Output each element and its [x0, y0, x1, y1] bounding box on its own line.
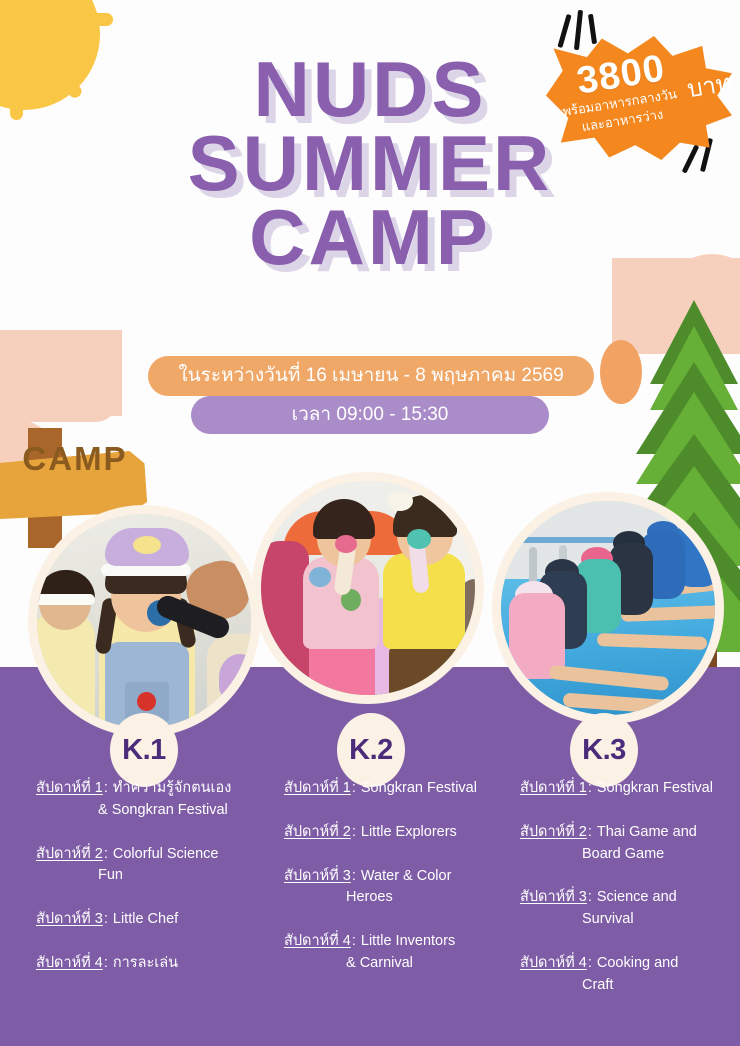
photo-circle-k3: [492, 492, 724, 724]
week-item: สัปดาห์ที่ 4: Little Inventors & Carniva…: [284, 931, 489, 975]
week-value-cont: Heroes: [284, 887, 489, 909]
week-value: การละเล่น: [113, 955, 178, 971]
photo-circle-k1: [28, 505, 260, 737]
week-item: สัปดาห์ที่ 1: ทำความรู้จักตนเอง & Songkr…: [36, 778, 241, 822]
title-line-3: CAMP: [0, 200, 740, 274]
week-value-cont: Survival: [520, 909, 725, 931]
week-label: สัปดาห์ที่ 4: [520, 955, 587, 971]
week-value-cont: Fun: [36, 865, 241, 887]
week-item: สัปดาห์ที่ 1: Songkran Festival: [284, 778, 489, 800]
spark-icon: [574, 10, 583, 50]
week-value: Songkran Festival: [597, 780, 713, 796]
week-value: Songkran Festival: [361, 780, 477, 796]
week-label: สัปดาห์ที่ 3: [284, 868, 351, 884]
week-separator: :: [587, 955, 593, 971]
week-value: Cooking and: [597, 955, 678, 971]
week-item: สัปดาห์ที่ 4: Cooking and Craft: [520, 953, 725, 997]
week-label: สัปดาห์ที่ 2: [520, 824, 587, 840]
grade-badge-k2: K.2: [337, 713, 405, 787]
schedule-column-k3: สัปดาห์ที่ 1: Songkran Festival สัปดาห์ท…: [490, 778, 740, 1046]
time-banner: เวลา 09:00 - 15:30: [191, 396, 549, 434]
week-item: สัปดาห์ที่ 3: Little Chef: [36, 909, 241, 931]
week-value: Little Explorers: [361, 824, 457, 840]
grade-badge-k1: K.1: [110, 713, 178, 787]
week-label: สัปดาห์ที่ 3: [520, 889, 587, 905]
week-label: สัปดาห์ที่ 2: [36, 846, 103, 862]
sun-ray-icon: [80, 13, 113, 26]
week-label: สัปดาห์ที่ 4: [284, 933, 351, 949]
week-item: สัปดาห์ที่ 4: การละเล่น: [36, 953, 241, 975]
week-item: สัปดาห์ที่ 3: Science and Survival: [520, 887, 725, 931]
schedule-column-k2: สัปดาห์ที่ 1: Songkran Festival สัปดาห์ท…: [250, 778, 490, 1046]
week-label: สัปดาห์ที่ 3: [36, 911, 103, 927]
week-item: สัปดาห์ที่ 2: Thai Game and Board Game: [520, 822, 725, 866]
spark-icon: [588, 14, 597, 44]
summer-camp-poster: 3800 บาท พร้อมอาหารกลางวัน และอาหารว่าง …: [0, 0, 740, 1046]
week-value: Little Inventors: [361, 933, 455, 949]
grade-badge-k3: K.3: [570, 713, 638, 787]
week-label: สัปดาห์ที่ 1: [520, 780, 587, 796]
week-item: สัปดาห์ที่ 3: Water & Color Heroes: [284, 866, 489, 910]
week-separator: :: [103, 911, 109, 927]
week-label: สัปดาห์ที่ 1: [36, 780, 103, 796]
week-separator: :: [351, 780, 357, 796]
week-separator: :: [587, 824, 593, 840]
week-separator: :: [103, 955, 109, 971]
week-label: สัปดาห์ที่ 2: [284, 824, 351, 840]
week-value: Colorful Science: [113, 846, 219, 862]
cloud-icon-left: [0, 330, 122, 416]
spark-icon: [557, 14, 571, 48]
week-item: สัปดาห์ที่ 1: Songkran Festival: [520, 778, 725, 800]
week-separator: :: [351, 824, 357, 840]
week-label: สัปดาห์ที่ 1: [284, 780, 351, 796]
signpost-label: CAMP: [0, 428, 164, 490]
week-separator: :: [103, 846, 109, 862]
photo-circle-k2: [252, 472, 484, 704]
week-value-cont: & Carnival: [284, 953, 489, 975]
schedule-column-k1: สัปดาห์ที่ 1: ทำความรู้จักตนเอง & Songkr…: [0, 778, 250, 1046]
title-line-2: SUMMER: [0, 126, 740, 200]
date-banner: ในระหว่างวันที่ 16 เมษายน - 8 พฤษภาคม 25…: [148, 356, 594, 396]
schedule-columns: สัปดาห์ที่ 1: ทำความรู้จักตนเอง & Songkr…: [0, 778, 740, 1046]
week-separator: :: [351, 868, 357, 884]
week-value: Water & Color: [361, 868, 452, 884]
week-value-cont: Board Game: [520, 844, 725, 866]
week-value: Little Chef: [113, 911, 178, 927]
week-value: Thai Game and: [597, 824, 697, 840]
week-separator: :: [103, 780, 109, 796]
week-label: สัปดาห์ที่ 4: [36, 955, 103, 971]
week-value: Science and: [597, 889, 677, 905]
week-item: สัปดาห์ที่ 2: Colorful Science Fun: [36, 844, 241, 888]
week-value-cont: Craft: [520, 975, 725, 997]
week-separator: :: [587, 889, 593, 905]
page-title: NUDS SUMMER CAMP: [0, 52, 740, 274]
week-item: สัปดาห์ที่ 2: Little Explorers: [284, 822, 489, 844]
week-separator: :: [587, 780, 593, 796]
title-line-1: NUDS: [0, 52, 740, 126]
week-separator: :: [351, 933, 357, 949]
week-value-cont: & Songkran Festival: [36, 800, 241, 822]
week-value: ทำความรู้จักตนเอง: [113, 780, 231, 796]
